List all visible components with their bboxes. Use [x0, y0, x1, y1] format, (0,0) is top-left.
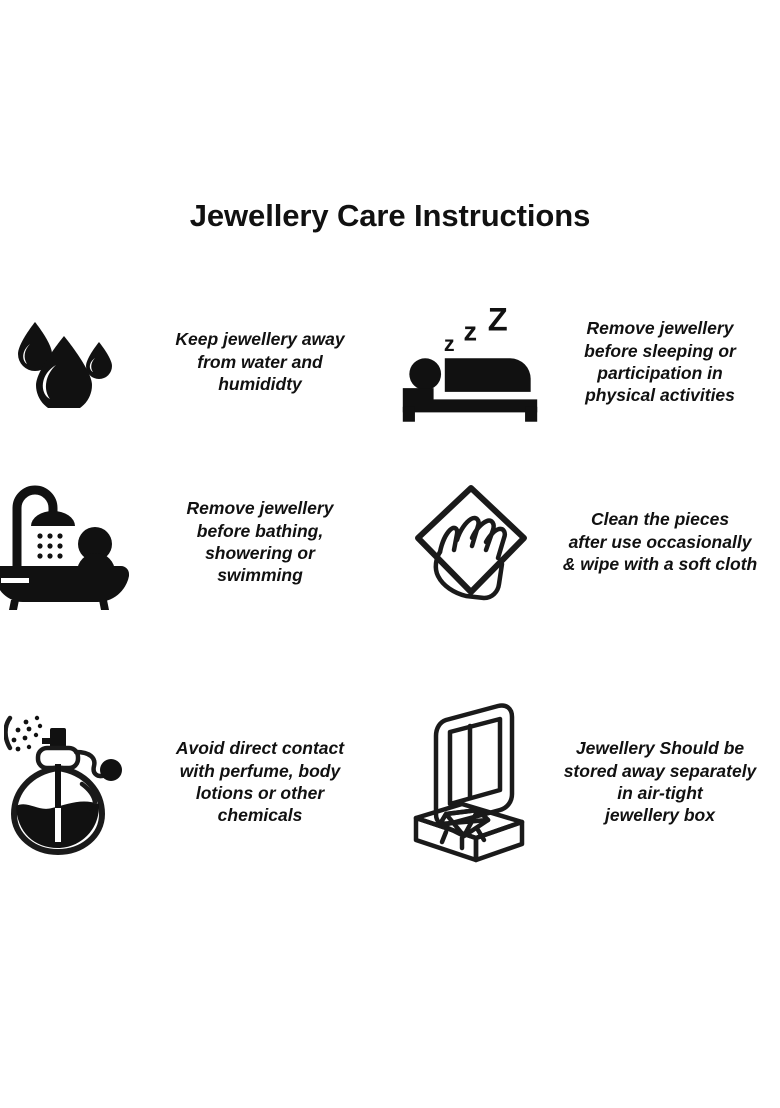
care-item-label: Avoid direct contact with perfume, body … — [130, 737, 390, 827]
care-item-chemicals: Avoid direct contact with perfume, body … — [0, 682, 390, 882]
label-line: Keep jewellery away — [175, 329, 344, 349]
label-line: Jewellery Should be — [576, 738, 744, 758]
label-line: chemicals — [218, 805, 303, 825]
label-line: from water and — [197, 352, 322, 372]
care-item-sleeping: z z Z Remove jewellery before sleeping o… — [390, 282, 780, 442]
care-item-cleaning: Clean the pieces after use occasionally … — [390, 462, 780, 622]
label-line: before sleeping or — [584, 341, 736, 361]
water-droplets-icon — [0, 316, 130, 408]
label-line: swimming — [217, 565, 303, 585]
label-line: lotions or other — [196, 783, 324, 803]
bathtub-shower-icon — [0, 474, 130, 610]
label-line: Clean the pieces — [591, 509, 729, 529]
care-item-water: Keep jewellery away from water and humid… — [0, 282, 390, 442]
care-item-label: Remove jewellery before bathing, showeri… — [130, 497, 390, 587]
svg-text:Z: Z — [488, 300, 508, 337]
perfume-bottle-spray-icon — [0, 708, 130, 856]
label-line: Remove jewellery — [187, 498, 334, 518]
label-line: humididty — [218, 374, 302, 394]
care-item-label: Remove jewellery before sleeping or part… — [540, 317, 780, 407]
label-line: Remove jewellery — [587, 318, 734, 338]
jewellery-box-with-gem-icon — [390, 698, 540, 866]
label-line: Avoid direct contact — [176, 738, 344, 758]
label-line: after use occasionally — [569, 532, 752, 552]
label-line: & wipe with a soft cloth — [563, 554, 757, 574]
svg-text:z: z — [463, 317, 477, 347]
care-item-bathing: Remove jewellery before bathing, showeri… — [0, 462, 390, 622]
person-sleeping-in-bed-icon: z z Z — [390, 298, 540, 426]
label-line: in air-tight — [617, 783, 703, 803]
care-item-label: Clean the pieces after use occasionally … — [540, 508, 780, 575]
page-title: Jewellery Care Instructions — [0, 198, 780, 234]
label-line: physical activities — [585, 385, 735, 405]
care-item-label: Keep jewellery away from water and humid… — [130, 328, 390, 395]
care-item-storage: Jewellery Should be stored away separate… — [390, 682, 780, 882]
label-line: with perfume, body — [180, 761, 340, 781]
care-item-label: Jewellery Should be stored away separate… — [540, 737, 780, 827]
jewellery-care-page: Jewellery Care Instructions Keep jewell — [0, 0, 780, 1108]
label-line: jewellery box — [605, 805, 715, 825]
care-instructions-grid: Keep jewellery away from water and humid… — [0, 282, 780, 892]
svg-text:z: z — [444, 332, 455, 356]
label-line: stored away separately — [564, 761, 757, 781]
label-line: before bathing, — [197, 521, 323, 541]
label-line: showering or — [205, 543, 315, 563]
label-line: participation in — [597, 363, 722, 383]
hand-wiping-cloth-icon — [390, 480, 540, 604]
